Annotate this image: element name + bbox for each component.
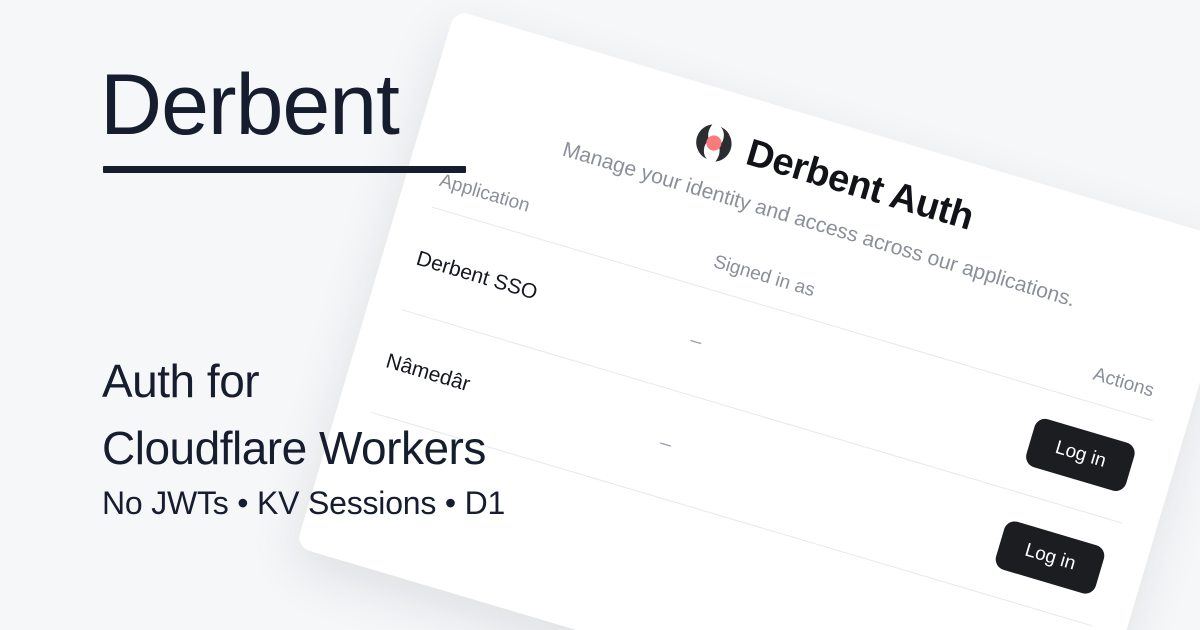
hero-brand-wordmark: Derbent bbox=[100, 62, 399, 148]
poster-canvas: Derbent Auth Manage your identity and ac… bbox=[0, 0, 1200, 630]
hero-underline-rule bbox=[103, 166, 466, 173]
hero-feature-list: No JWTs • KV Sessions • D1 bbox=[102, 485, 505, 522]
derbent-ring-logo-icon bbox=[688, 116, 740, 168]
hero-tagline-line-1: Auth for bbox=[102, 348, 486, 415]
hero-tagline-line-2: Cloudflare Workers bbox=[102, 415, 486, 482]
derbent-auth-card: Derbent Auth Manage your identity and ac… bbox=[296, 10, 1200, 630]
login-button[interactable]: Log in bbox=[1024, 416, 1138, 493]
hero-tagline: Auth for Cloudflare Workers bbox=[102, 348, 486, 481]
rotated-card-container: Derbent Auth Manage your identity and ac… bbox=[296, 10, 1200, 630]
login-button[interactable]: Log in bbox=[993, 519, 1107, 596]
